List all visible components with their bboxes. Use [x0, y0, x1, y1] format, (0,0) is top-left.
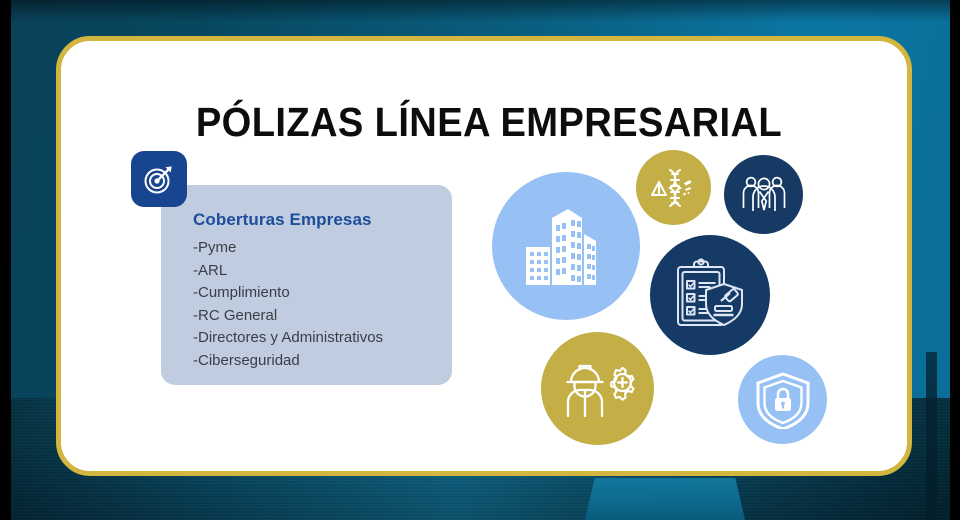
- icon-circle-worker-safety: [541, 332, 654, 445]
- clipboard-shield-gavel-icon: [672, 257, 748, 333]
- list-item: -Cumplimiento: [193, 282, 383, 305]
- list-item: -Pyme: [193, 237, 383, 260]
- icon-circle-compliance: [650, 235, 770, 355]
- top-vignette: [10, 0, 950, 22]
- slide-stage: PÓLIZAS LÍNEA EMPRESARIAL Coberturas Emp…: [0, 0, 960, 520]
- icon-circle-biohazard-dna: [636, 150, 711, 225]
- list-item: -ARL: [193, 260, 383, 283]
- coverage-heading: Coberturas Empresas: [193, 210, 372, 230]
- monitor-stand: [585, 478, 745, 520]
- icon-circle-buildings: [492, 172, 640, 320]
- worker-gear-health-icon: [561, 352, 635, 426]
- target-badge: [131, 151, 187, 207]
- buildings-icon: [520, 200, 612, 292]
- letterbox-right: [950, 0, 960, 520]
- coverage-list: -Pyme -ARL -Cumplimiento -RC General -Di…: [193, 237, 383, 372]
- right-edge-pole: [926, 352, 937, 520]
- shield-lock-icon: [754, 371, 812, 429]
- target-arrow-icon: [141, 161, 177, 197]
- list-item: -Directores y Administrativos: [193, 327, 383, 350]
- list-item: -Ciberseguridad: [193, 350, 383, 373]
- list-item: -RC General: [193, 305, 383, 328]
- biohazard-dna-icon: [649, 163, 699, 213]
- icon-circle-cybersecurity: [738, 355, 827, 444]
- executives-group-icon: [739, 170, 789, 220]
- icon-circle-executives: [724, 155, 803, 234]
- letterbox-left: [0, 0, 11, 520]
- coverage-panel: Coberturas Empresas -Pyme -ARL -Cumplimi…: [161, 185, 452, 385]
- page-title: PÓLIZAS LÍNEA EMPRESARIAL: [91, 99, 887, 146]
